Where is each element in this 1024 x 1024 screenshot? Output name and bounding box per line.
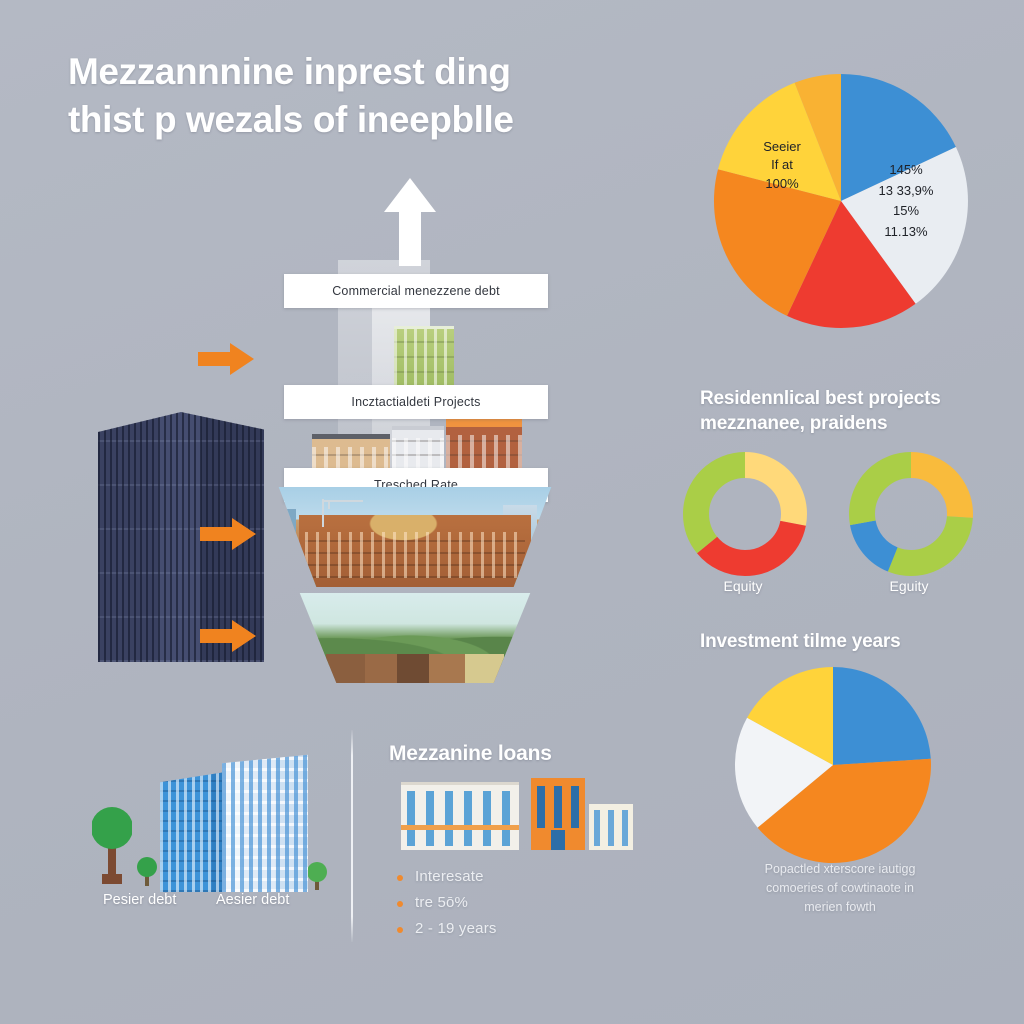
title-line-1: Mezzannnine inprest ding [68,51,511,92]
funnel-panel-countryside [284,593,546,683]
funnel-panel-city [270,487,560,587]
label-senior-debt: Pesier debt [103,892,176,908]
mezzanine-loans-list: Interesate tre 5ō% 2 - 19 years [389,868,649,937]
investment-panel-heading: Investment tilme years [700,629,1000,654]
mezzanine-loans-block: Mezzanine loans Interesate tre 5ō% 2 - 1… [389,742,649,946]
pie-value-labels: 145% 13 33,9% 15% 11.13% [858,160,954,242]
banner-commercial-debt[interactable]: Commercial menezzene debt [284,274,548,308]
pie-value-4: 11.13% [858,222,954,243]
title-line-2: thist p wezals of ineepblle [68,96,668,144]
tree-icon [136,850,158,888]
infographic-canvas: Mezzannnine inprest ding thist p wezals … [0,0,1024,1024]
vertical-divider [351,730,353,942]
arrow-right-icon [198,618,258,654]
pie-slice-blue [833,667,931,765]
page-title: Mezzannnine inprest ding thist p wezals … [68,48,668,144]
brick-row-illustration [312,418,522,474]
pie-inner-label-senior: Seeier If at 100% [740,138,824,193]
list-item: Interesate [389,868,649,885]
mezzanine-buildings-illustration [389,778,649,850]
investment-panel-footer: Popactled хterscore iautigg comoeries of… [690,860,990,916]
residential-panel-heading: Residennlical best projects mezznanee, p… [700,386,1000,436]
senior-pie-chart[interactable]: Seeier If at 100% 145% 13 33,9% 15% 11.1… [712,72,970,330]
arrow-right-icon [198,516,258,552]
tree-icon [92,790,132,888]
mezzanine-loans-heading: Mezzanine loans [389,742,649,766]
pie-value-3: 15% [858,201,954,222]
label-easier-debt: Aesier debt [216,892,289,908]
donut-left-caption: Equity [683,578,803,594]
funnel-illustration [270,487,560,682]
list-item: 2 - 19 years [389,920,649,937]
crane-icon [319,495,367,529]
investment-time-pie-chart[interactable] [733,665,933,865]
residential-donut-right[interactable] [849,452,973,576]
green-midrise-illustration [394,326,454,388]
tree-icon [306,856,328,892]
banner-projects[interactable]: Incztactialdeti Projects [284,385,548,419]
pie-value-2: 13 33,9% [858,181,954,202]
pie-value-1: 145% [858,160,954,181]
donut-right-caption: Eguity [849,578,969,594]
arrow-right-icon [196,341,256,377]
white-tower-illustration [222,752,308,892]
list-item: tre 5ō% [389,894,649,911]
residential-donut-left[interactable] [683,452,807,576]
